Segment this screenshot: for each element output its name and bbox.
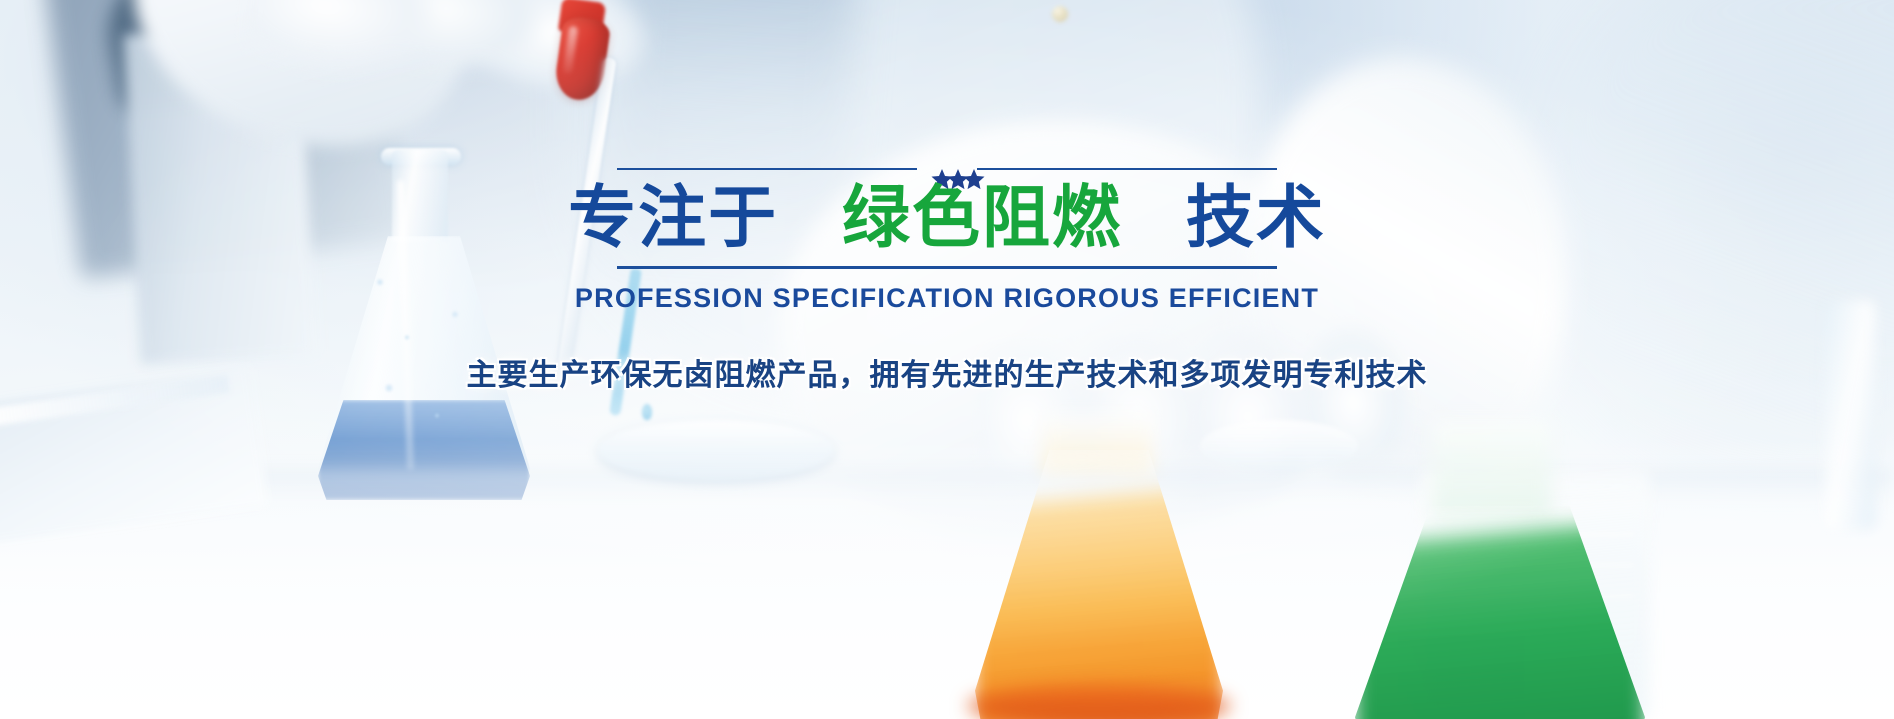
hero-banner: 专注于 绿色阻燃 技术 PROFESSION SPECIFICATION RIG… <box>0 0 1894 719</box>
divider-line-right <box>977 168 1277 170</box>
banner-headline: 专注于 绿色阻燃 技术 <box>568 178 1326 258</box>
stars-divider <box>617 168 1277 170</box>
headline-underline-rule <box>617 266 1277 269</box>
english-tagline: PROFESSION SPECIFICATION RIGOROUS EFFICI… <box>575 283 1319 314</box>
banner-content: 专注于 绿色阻燃 技术 PROFESSION SPECIFICATION RIG… <box>0 0 1894 719</box>
headline-part-1: 专注于 <box>568 180 778 256</box>
chinese-subtitle: 主要生产环保无卤阻燃产品，拥有先进的生产技术和多项发明专利技术 <box>467 350 1428 394</box>
divider-line-left <box>617 168 917 170</box>
headline-part-2: 绿色阻燃 <box>842 180 1122 256</box>
headline-part-3: 技术 <box>1186 180 1326 256</box>
